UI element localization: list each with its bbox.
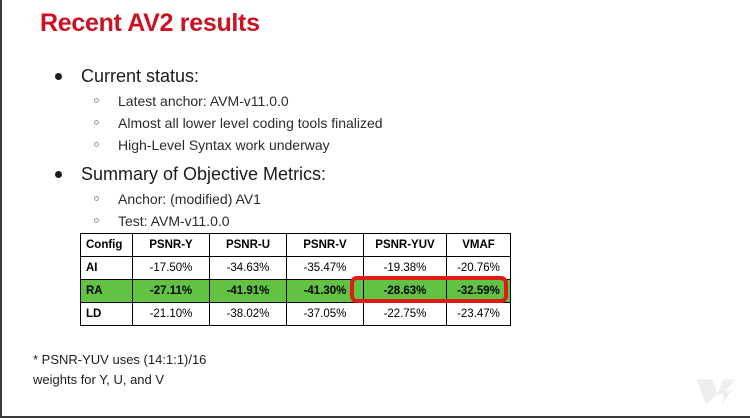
verge-logo bbox=[694, 374, 738, 408]
bullet-level1-summary-metrics: Summary of Objective Metrics: bbox=[54, 162, 614, 186]
cell-vmaf: -32.59% bbox=[447, 280, 511, 303]
table-body: AI -17.50% -34.63% -35.47% -19.38% -20.7… bbox=[81, 257, 511, 326]
bullet-circle-icon bbox=[94, 218, 99, 223]
cell-psnr-yuv: -22.75% bbox=[364, 303, 447, 326]
bullet-list: Current status: Latest anchor: AVM-v11.0… bbox=[54, 64, 614, 233]
bullet-level2-item: High-Level Syntax work underway bbox=[91, 135, 614, 156]
cell-psnr-u: -38.02% bbox=[210, 303, 287, 326]
cell-psnr-y: -21.10% bbox=[133, 303, 210, 326]
results-table-container: Config PSNR-Y PSNR-U PSNR-V PSNR-YUV VMA… bbox=[80, 233, 511, 326]
column-header-config: Config bbox=[81, 234, 133, 257]
bullet-sublist-summary-metrics: Anchor: (modified) AV1 Test: AVM-v11.0.0 bbox=[91, 189, 614, 232]
table-row-highlighted: RA -27.11% -41.91% -41.30% -28.63% -32.5… bbox=[81, 280, 511, 303]
bullet-level1-label: Summary of Objective Metrics: bbox=[81, 164, 326, 184]
cell-psnr-y: -17.50% bbox=[133, 257, 210, 280]
cell-psnr-yuv: -28.63% bbox=[364, 280, 447, 303]
column-header-psnr-v: PSNR-V bbox=[287, 234, 364, 257]
bullet-dot-icon bbox=[55, 171, 62, 178]
cell-psnr-yuv: -19.38% bbox=[364, 257, 447, 280]
bullet-level1-label: Current status: bbox=[81, 66, 199, 86]
footnote-text: * PSNR-YUV uses (14:1:1)/16 weights for … bbox=[33, 350, 206, 390]
column-header-psnr-u: PSNR-U bbox=[210, 234, 287, 257]
table-header: Config PSNR-Y PSNR-U PSNR-V PSNR-YUV VMA… bbox=[81, 234, 511, 257]
bullet-circle-icon bbox=[94, 196, 99, 201]
column-header-psnr-yuv: PSNR-YUV bbox=[364, 234, 447, 257]
bullet-circle-icon bbox=[94, 142, 99, 147]
bullet-level2-label: Latest anchor: AVM-v11.0.0 bbox=[118, 93, 289, 109]
cell-vmaf: -20.76% bbox=[447, 257, 511, 280]
cell-psnr-u: -41.91% bbox=[210, 280, 287, 303]
bullet-level2-item: Anchor: (modified) AV1 bbox=[91, 189, 614, 210]
cell-psnr-v: -41.30% bbox=[287, 280, 364, 303]
cell-psnr-y: -27.11% bbox=[133, 280, 210, 303]
results-table: Config PSNR-Y PSNR-U PSNR-V PSNR-YUV VMA… bbox=[80, 233, 511, 326]
verge-logo-icon bbox=[694, 374, 738, 408]
bullet-level2-label: Anchor: (modified) AV1 bbox=[118, 191, 261, 207]
bullet-level2-item: Test: AVM-v11.0.0 bbox=[91, 211, 614, 232]
bullet-level2-label: Test: AVM-v11.0.0 bbox=[118, 213, 230, 229]
cell-config: RA bbox=[81, 280, 133, 303]
bullet-sublist-current-status: Latest anchor: AVM-v11.0.0 Almost all lo… bbox=[91, 91, 614, 156]
bullet-circle-icon bbox=[94, 98, 99, 103]
cell-psnr-v: -35.47% bbox=[287, 257, 364, 280]
bullet-level2-label: High-Level Syntax work underway bbox=[118, 137, 330, 153]
bullet-level1-current-status: Current status: bbox=[54, 64, 614, 88]
page-title: Recent AV2 results bbox=[40, 9, 260, 38]
bullet-level2-label: Almost all lower level coding tools fina… bbox=[118, 115, 383, 131]
cell-psnr-v: -37.05% bbox=[287, 303, 364, 326]
cell-config: LD bbox=[81, 303, 133, 326]
cell-vmaf: -23.47% bbox=[447, 303, 511, 326]
bullet-level2-item: Almost all lower level coding tools fina… bbox=[91, 113, 614, 134]
bullet-level2-item: Latest anchor: AVM-v11.0.0 bbox=[91, 91, 614, 112]
cell-config: AI bbox=[81, 257, 133, 280]
presentation-slide: Recent AV2 results Current status: Lates… bbox=[0, 0, 750, 418]
cell-psnr-u: -34.63% bbox=[210, 257, 287, 280]
table-row: LD -21.10% -38.02% -37.05% -22.75% -23.4… bbox=[81, 303, 511, 326]
bullet-circle-icon bbox=[94, 120, 99, 125]
bullet-dot-icon bbox=[55, 73, 62, 80]
table-row: AI -17.50% -34.63% -35.47% -19.38% -20.7… bbox=[81, 257, 511, 280]
column-header-psnr-y: PSNR-Y bbox=[133, 234, 210, 257]
table-header-row: Config PSNR-Y PSNR-U PSNR-V PSNR-YUV VMA… bbox=[81, 234, 511, 257]
column-header-vmaf: VMAF bbox=[447, 234, 511, 257]
